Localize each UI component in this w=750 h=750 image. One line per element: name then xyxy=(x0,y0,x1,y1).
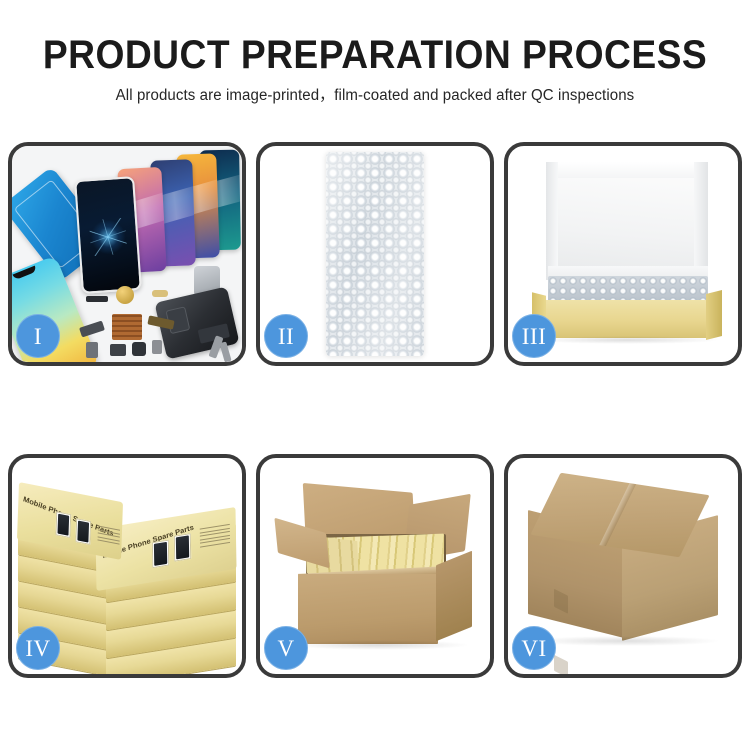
step-badge-3: III xyxy=(512,314,556,358)
component-small-3 xyxy=(132,342,146,356)
step-badge-4: IV xyxy=(16,626,60,670)
sealed-carton xyxy=(528,484,724,654)
page-title: PRODUCT PREPARATION PROCESS xyxy=(26,32,724,78)
component-small-4 xyxy=(152,340,162,354)
carton-side-face xyxy=(436,551,472,642)
component-small-2 xyxy=(110,344,126,356)
open-carton xyxy=(276,482,476,658)
step-badge-5: V xyxy=(264,626,308,670)
process-step-panel-5: V xyxy=(256,454,494,678)
retail-box-front-text-lines xyxy=(200,524,230,550)
retail-box-front-screen-2 xyxy=(174,533,191,562)
product-preparation-process-infographic: PRODUCT PREPARATION PROCESS All products… xyxy=(0,0,750,750)
retail-box-back-screen-1 xyxy=(55,511,71,538)
retail-box-back-text-lines xyxy=(97,525,120,547)
process-step-panel-1: I xyxy=(8,142,246,366)
process-step-panel-3: III xyxy=(504,142,742,366)
mailer-box-base xyxy=(538,300,714,338)
step-badge-2: II xyxy=(264,314,308,358)
step-badge-1: I xyxy=(16,314,60,358)
component-connector xyxy=(152,290,168,297)
mailer-box-shadow xyxy=(534,336,720,344)
component-strip xyxy=(86,296,108,302)
sealed-carton-shadow xyxy=(532,636,718,646)
bubble-wrap-sheet xyxy=(326,152,424,356)
sealed-carton-tab-bottom xyxy=(554,655,568,674)
carton-front-face xyxy=(298,574,438,644)
process-step-panel-6: VI xyxy=(504,454,742,678)
step-badge-6: VI xyxy=(512,626,556,670)
process-step-grid: I II III xyxy=(8,142,742,678)
retail-box-back-screen-2 xyxy=(75,518,91,545)
component-small-1 xyxy=(86,342,98,358)
phone-cracked-screen xyxy=(74,176,142,294)
page-subtitle: All products are image-printed，film-coat… xyxy=(11,86,739,106)
process-step-panel-4: Mobile Phone Spare Parts Mobile Phone Sp… xyxy=(8,454,246,678)
sealed-carton-tab-top xyxy=(554,589,568,614)
component-board xyxy=(112,314,142,340)
component-speaker-coil xyxy=(116,286,134,304)
retail-box-front-screen-1 xyxy=(152,540,169,569)
carton-shadow xyxy=(290,640,470,650)
crack-pattern xyxy=(89,218,127,256)
mailer-box-lid xyxy=(546,162,708,280)
process-step-panel-2: II xyxy=(256,142,494,366)
mailer-box-lid-wing xyxy=(694,162,708,280)
